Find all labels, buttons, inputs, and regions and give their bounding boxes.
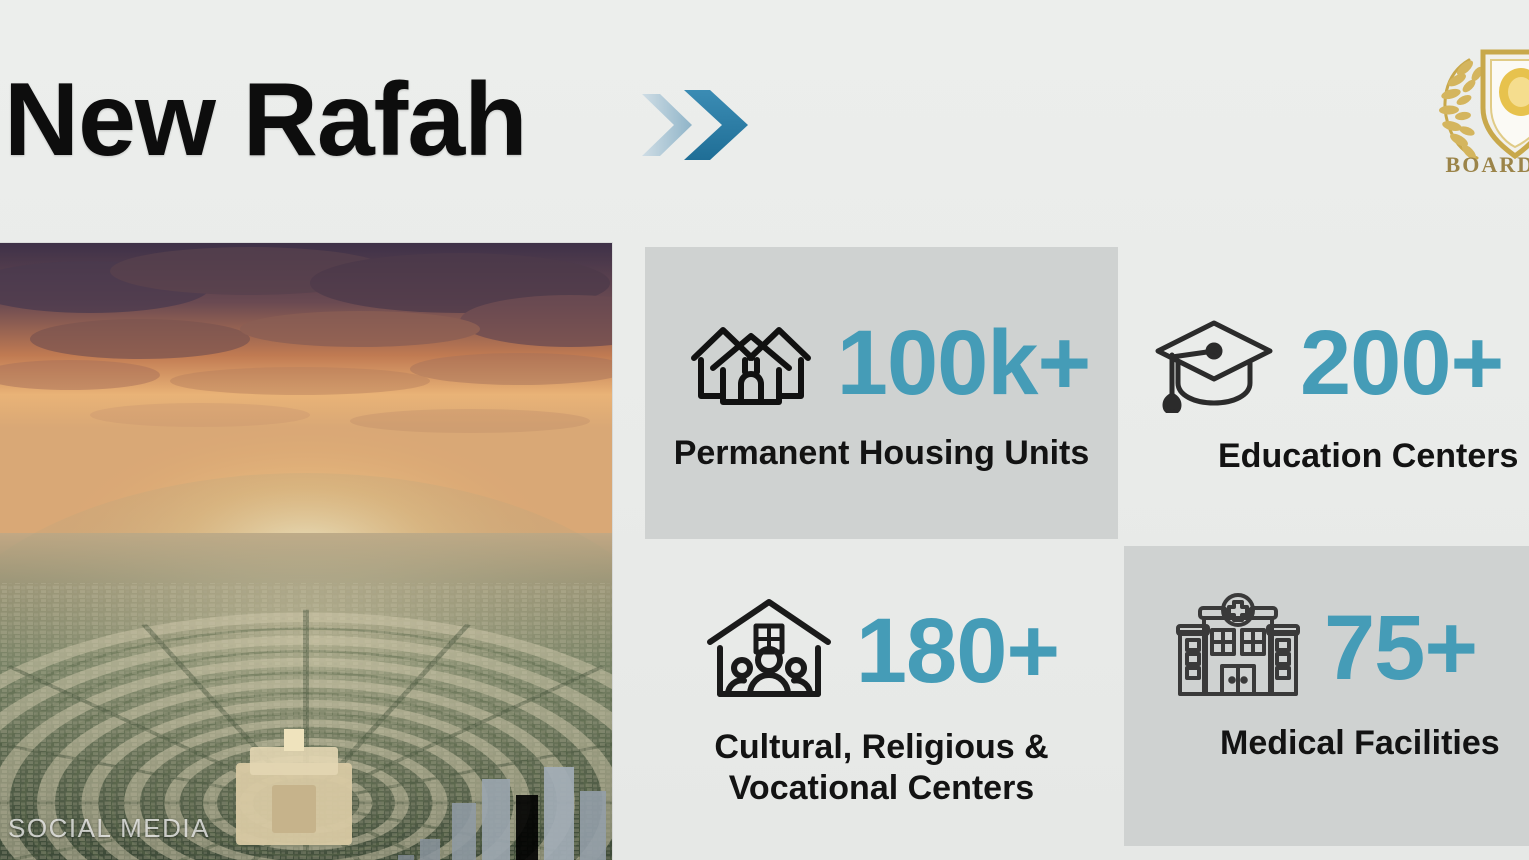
stat-card-education: 200+ Education Centers [1150,247,1529,539]
stats-grid: 100k+ Permanent Housing Units 200+ [0,0,1529,860]
hospital-icon [1174,592,1302,705]
house-with-people-icon [704,594,834,709]
stat-label: Education Centers [1218,436,1518,477]
stat-card-cultural: 180+ Cultural, Religious & Vocational Ce… [645,556,1118,856]
stat-value: 100k+ [837,320,1090,407]
stat-card-medical: 75+ Medical Facilities [1124,546,1529,846]
stat-value: 75+ [1324,605,1477,692]
graduation-cap-icon [1150,309,1278,418]
stat-label: Permanent Housing Units [674,433,1090,474]
slide-root: New Rafah [0,0,1529,860]
stat-value: 180+ [856,608,1059,695]
stat-value: 200+ [1300,320,1503,407]
stat-label: Medical Facilities [1220,723,1500,764]
stat-card-housing: 100k+ Permanent Housing Units [645,247,1118,539]
houses-icon [687,312,815,415]
stat-label: Cultural, Religious & Vocational Centers [714,727,1048,810]
